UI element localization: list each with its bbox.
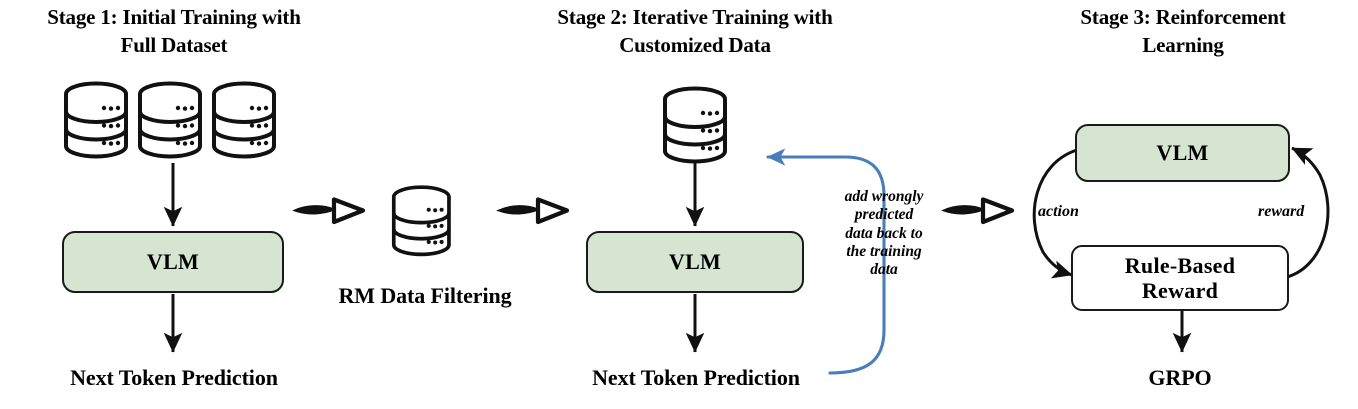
stage-3-vlm-label: VLM xyxy=(1156,140,1208,165)
stage-3-title-line2: Learning xyxy=(1008,32,1358,60)
chevron-arrow-icon-2 xyxy=(498,200,567,223)
stage-1-vlm-label: VLM xyxy=(147,249,199,274)
feedback-note-line-5: data xyxy=(825,261,943,279)
stage-3-vlm-box[interactable]: VLM xyxy=(1075,124,1290,182)
chevron-arrow-icon-1 xyxy=(294,200,363,223)
stage-1-title-line1: Stage 1: Initial Training with xyxy=(0,4,348,32)
feedback-note-line-3: data back to xyxy=(825,225,943,243)
stage-2-vlm-label: VLM xyxy=(669,249,721,274)
feedback-note-line-1: add wrongly xyxy=(825,188,943,206)
stage-1-output-label: Next Token Prediction xyxy=(0,365,348,391)
diagram-graphics-layer xyxy=(0,0,1358,409)
loop-label-action: action xyxy=(1038,203,1079,221)
feedback-note-line-2: predicted xyxy=(825,206,943,224)
rm-filter-database-icon xyxy=(394,187,449,254)
stage-2-output-label: Next Token Prediction xyxy=(521,365,871,391)
stage-2-vlm-box[interactable]: VLM xyxy=(586,231,804,293)
stage-3-reward-box[interactable]: Rule-Based Reward xyxy=(1071,245,1289,311)
stage-2-title: Stage 2: Iterative Training with Customi… xyxy=(520,4,870,60)
stage2-dataset-icon xyxy=(665,89,725,162)
stage-1-title-line2: Full Dataset xyxy=(0,32,348,60)
stage-3-title-line1: Stage 3: Reinforcement xyxy=(1008,4,1358,32)
stage-3-title: Stage 3: Reinforcement Learning xyxy=(1008,4,1358,60)
feedback-note: add wrongly predicted data back to the t… xyxy=(825,188,943,279)
feedback-note-line-4: the training xyxy=(825,243,943,261)
stage-1-vlm-box[interactable]: VLM xyxy=(62,231,284,293)
stage-3-output-label: GRPO xyxy=(1080,365,1280,391)
stage1-dataset-icon xyxy=(66,84,274,157)
stage-1-title: Stage 1: Initial Training with Full Data… xyxy=(0,4,348,60)
loop-label-reward: reward xyxy=(1258,203,1304,221)
figure-canvas: Stage 1: Initial Training with Full Data… xyxy=(0,0,1358,409)
stage-3-reward-label-line1: Rule-Based xyxy=(1125,253,1236,278)
stage-3-reward-label-line2: Reward xyxy=(1142,278,1218,303)
stage-2-title-line2: Customized Data xyxy=(520,32,870,60)
rm-data-filtering-caption: RM Data Filtering xyxy=(320,283,530,309)
stage-2-title-line1: Stage 2: Iterative Training with xyxy=(520,4,870,32)
chevron-arrow-icon-3 xyxy=(943,200,1012,223)
